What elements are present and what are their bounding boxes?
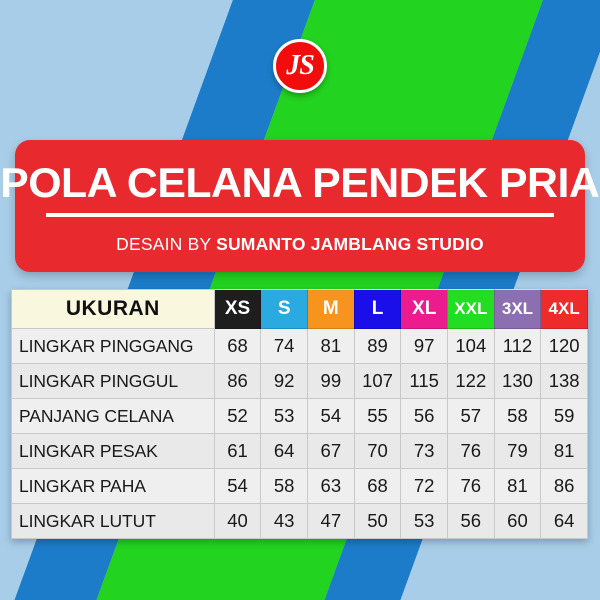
cell-value: 104 xyxy=(447,329,494,364)
cell-value: 130 xyxy=(494,364,541,399)
cell-value: 61 xyxy=(214,434,261,469)
cell-value: 58 xyxy=(261,469,308,504)
cell-value: 72 xyxy=(401,469,448,504)
title-underline xyxy=(46,213,554,217)
cell-value: 76 xyxy=(447,434,494,469)
table-row: LINGKAR PESAK6164677073767981 xyxy=(12,434,588,469)
cell-value: 107 xyxy=(354,364,401,399)
cell-value: 86 xyxy=(541,469,588,504)
row-label: PANJANG CELANA xyxy=(12,399,215,434)
cell-value: 112 xyxy=(494,329,541,364)
cell-value: 76 xyxy=(447,469,494,504)
row-label: LINGKAR LUTUT xyxy=(12,504,215,539)
cell-value: 92 xyxy=(261,364,308,399)
cell-value: 54 xyxy=(308,399,355,434)
row-label: LINGKAR PAHA xyxy=(12,469,215,504)
cell-value: 60 xyxy=(494,504,541,539)
cell-value: 81 xyxy=(541,434,588,469)
cell-value: 122 xyxy=(447,364,494,399)
title-banner: POLA CELANA PENDEK PRIA DESAIN BY SUMANT… xyxy=(15,140,585,272)
cell-value: 64 xyxy=(261,434,308,469)
cell-value: 55 xyxy=(354,399,401,434)
cell-value: 58 xyxy=(494,399,541,434)
size-table: UKURAN XSSMLXLXXL3XL4XL LINGKAR PINGGANG… xyxy=(11,289,588,539)
cell-value: 79 xyxy=(494,434,541,469)
cell-value: 64 xyxy=(541,504,588,539)
cell-value: 67 xyxy=(308,434,355,469)
table-row: LINGKAR PINGGANG6874818997104112120 xyxy=(12,329,588,364)
cell-value: 56 xyxy=(447,504,494,539)
header-size-3xl: 3XL xyxy=(494,290,541,329)
js-logo: JS xyxy=(273,39,327,93)
cell-value: 52 xyxy=(214,399,261,434)
row-label: LINGKAR PESAK xyxy=(12,434,215,469)
js-logo-text: JS xyxy=(286,52,314,80)
cell-value: 59 xyxy=(541,399,588,434)
cell-value: 120 xyxy=(541,329,588,364)
row-label: LINGKAR PINGGUL xyxy=(12,364,215,399)
header-size-s: S xyxy=(261,290,308,329)
table-header-row: UKURAN XSSMLXLXXL3XL4XL xyxy=(12,290,588,329)
cell-value: 57 xyxy=(447,399,494,434)
cell-value: 68 xyxy=(214,329,261,364)
credit-line: DESAIN BY SUMANTO JAMBLANG STUDIO xyxy=(116,234,484,255)
header-size-4xl: 4XL xyxy=(541,290,588,329)
cell-value: 89 xyxy=(354,329,401,364)
cell-value: 53 xyxy=(261,399,308,434)
credit-prefix: DESAIN BY xyxy=(116,234,216,254)
cell-value: 138 xyxy=(541,364,588,399)
header-size-xxl: XXL xyxy=(447,290,494,329)
cell-value: 99 xyxy=(308,364,355,399)
row-label: LINGKAR PINGGANG xyxy=(12,329,215,364)
cell-value: 81 xyxy=(308,329,355,364)
page-title: POLA CELANA PENDEK PRIA xyxy=(0,162,599,204)
header-size-m: M xyxy=(308,290,355,329)
header-ukuran: UKURAN xyxy=(12,290,215,329)
header-size-xl: XL xyxy=(401,290,448,329)
table-row: LINGKAR LUTUT4043475053566064 xyxy=(12,504,588,539)
table-row: LINGKAR PAHA5458636872768186 xyxy=(12,469,588,504)
size-chart-poster: JS POLA CELANA PENDEK PRIA DESAIN BY SUM… xyxy=(0,0,600,600)
cell-value: 50 xyxy=(354,504,401,539)
cell-value: 74 xyxy=(261,329,308,364)
table-row: PANJANG CELANA5253545556575859 xyxy=(12,399,588,434)
header-size-l: L xyxy=(354,290,401,329)
cell-value: 47 xyxy=(308,504,355,539)
cell-value: 68 xyxy=(354,469,401,504)
header-size-xs: XS xyxy=(214,290,261,329)
cell-value: 40 xyxy=(214,504,261,539)
table-row: LINGKAR PINGGUL869299107115122130138 xyxy=(12,364,588,399)
cell-value: 43 xyxy=(261,504,308,539)
cell-value: 81 xyxy=(494,469,541,504)
cell-value: 53 xyxy=(401,504,448,539)
cell-value: 115 xyxy=(401,364,448,399)
credit-studio: SUMANTO JAMBLANG STUDIO xyxy=(216,234,484,254)
cell-value: 70 xyxy=(354,434,401,469)
cell-value: 86 xyxy=(214,364,261,399)
cell-value: 97 xyxy=(401,329,448,364)
cell-value: 63 xyxy=(308,469,355,504)
cell-value: 56 xyxy=(401,399,448,434)
size-table-container: UKURAN XSSMLXLXXL3XL4XL LINGKAR PINGGANG… xyxy=(11,289,588,539)
cell-value: 54 xyxy=(214,469,261,504)
cell-value: 73 xyxy=(401,434,448,469)
